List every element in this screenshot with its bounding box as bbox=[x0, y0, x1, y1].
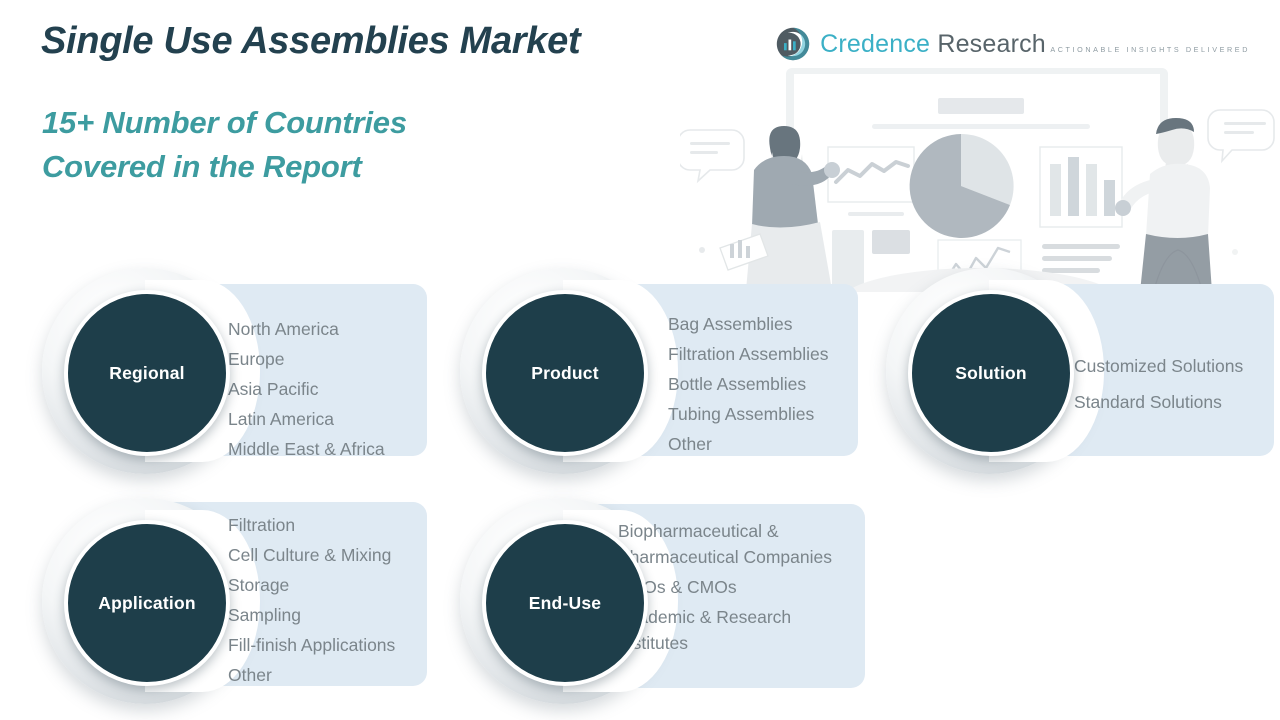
segment-label-solution: Solution bbox=[955, 363, 1027, 384]
list-item: Other bbox=[668, 429, 828, 459]
logo-name-research: Research bbox=[937, 30, 1046, 58]
segment-group-product[interactable]: Product Bag Assemblies Filtration Assemb… bbox=[440, 262, 860, 484]
list-item: Biopharmaceutical & Pharmaceutical Compa… bbox=[618, 518, 860, 570]
list-item: Filtration Assemblies bbox=[668, 339, 828, 369]
page-subtitle: 15+ Number of Countries Covered in the R… bbox=[42, 101, 407, 189]
list-item: Middle East & Africa bbox=[228, 434, 385, 464]
segment-group-application[interactable]: Application Filtration Cell Culture & Mi… bbox=[22, 492, 432, 714]
logo-text-block: Credence Research Actionable Insights De… bbox=[820, 32, 1250, 57]
segment-disc-product[interactable]: Product bbox=[482, 290, 648, 456]
list-item: Filtration bbox=[228, 510, 395, 540]
segment-label-regional: Regional bbox=[109, 363, 185, 384]
bar-chart-circle-icon bbox=[775, 26, 811, 62]
list-item: Asia Pacific bbox=[228, 374, 385, 404]
segment-label-application: Application bbox=[98, 593, 195, 614]
segment-label-end-use: End-Use bbox=[529, 593, 601, 614]
logo-wordmark: Credence Research bbox=[820, 30, 1046, 58]
list-item: CROs & CMOs bbox=[618, 574, 860, 600]
segment-label-product: Product bbox=[531, 363, 599, 384]
list-item: Latin America bbox=[228, 404, 385, 434]
list-item: Other bbox=[228, 660, 395, 690]
segment-list-application: Filtration Cell Culture & Mixing Storage… bbox=[228, 510, 395, 690]
segment-disc-regional[interactable]: Regional bbox=[64, 290, 230, 456]
list-item: Bottle Assemblies bbox=[668, 369, 828, 399]
list-item: Academic & Research Institutes bbox=[618, 604, 860, 656]
logo-tagline: Actionable Insights Delivered bbox=[1050, 45, 1250, 54]
brand-logo[interactable]: Credence Research Actionable Insights De… bbox=[775, 26, 1250, 62]
list-item: North America bbox=[228, 314, 385, 344]
list-item: Bag Assemblies bbox=[668, 309, 828, 339]
segment-group-solution[interactable]: Solution Customized Solutions Standard S… bbox=[866, 262, 1276, 484]
list-item: Standard Solutions bbox=[1074, 384, 1243, 420]
segment-list-solution: Customized Solutions Standard Solutions bbox=[1074, 348, 1243, 420]
slide-canvas: Single Use Assemblies Market 15+ Number … bbox=[0, 0, 1280, 720]
list-item: Customized Solutions bbox=[1074, 348, 1243, 384]
segment-disc-solution[interactable]: Solution bbox=[908, 290, 1074, 456]
list-item: Sampling bbox=[228, 600, 395, 630]
segment-disc-application[interactable]: Application bbox=[64, 520, 230, 686]
logo-name-credence: Credence bbox=[820, 30, 930, 58]
page-title: Single Use Assemblies Market bbox=[41, 20, 580, 63]
list-item: Fill-finish Applications bbox=[228, 630, 395, 660]
list-item: Cell Culture & Mixing bbox=[228, 540, 395, 570]
subtitle-line-2: Covered in the Report bbox=[42, 145, 407, 189]
segment-list-end-use: Biopharmaceutical & Pharmaceutical Compa… bbox=[618, 518, 860, 656]
business-presentation-illustration bbox=[680, 52, 1280, 292]
segment-disc-end-use[interactable]: End-Use bbox=[482, 520, 648, 686]
segment-group-regional[interactable]: Regional North America Europe Asia Pacif… bbox=[22, 262, 432, 484]
segment-list-regional: North America Europe Asia Pacific Latin … bbox=[228, 314, 385, 464]
list-item: Storage bbox=[228, 570, 395, 600]
segment-group-end-use[interactable]: End-Use Biopharmaceutical & Pharmaceutic… bbox=[440, 492, 870, 714]
subtitle-line-1: 15+ Number of Countries bbox=[42, 101, 407, 145]
list-item: Europe bbox=[228, 344, 385, 374]
segment-list-product: Bag Assemblies Filtration Assemblies Bot… bbox=[668, 309, 828, 459]
list-item: Tubing Assemblies bbox=[668, 399, 828, 429]
